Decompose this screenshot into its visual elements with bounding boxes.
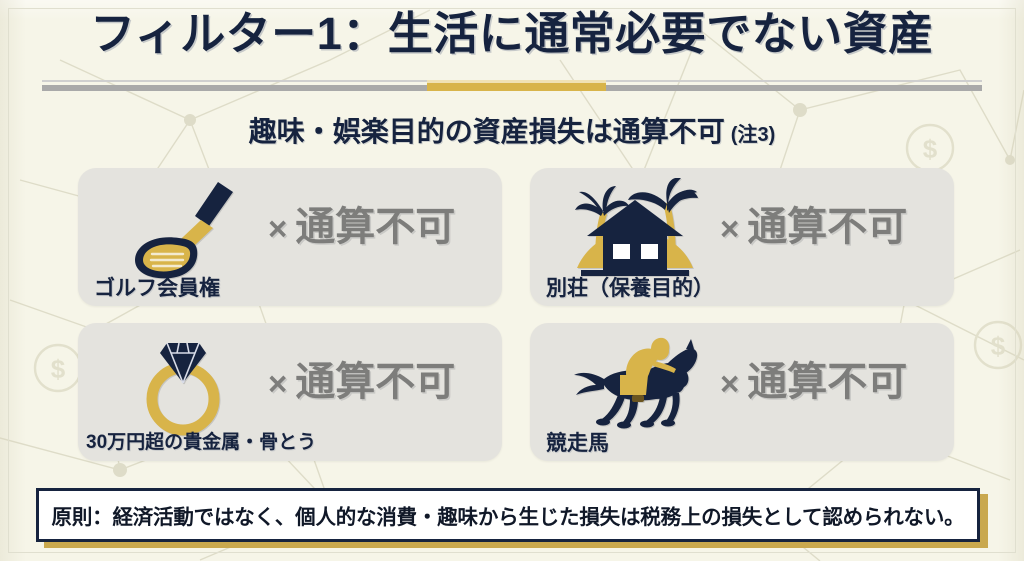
subtitle-footnote-ref: (注3)	[731, 124, 775, 146]
asset-card-golf: ゴルフ会員権 ×通算不可	[78, 168, 502, 306]
svg-text:$: $	[991, 331, 1006, 361]
slide-root: $ $ $ フィルター1：生活に通常必要でない資産 趣味・娯楽目的の資産損失は通…	[0, 0, 1024, 561]
principle-callout-box: 原則：経済活動ではなく、個人的な消費・趣味から生じた損失は税務上の損失として認め…	[36, 488, 980, 542]
asset-card-verdict: ×通算不可	[720, 194, 907, 252]
svg-text:$: $	[51, 354, 66, 384]
verdict-text: 通算不可	[747, 360, 907, 404]
cross-mark-icon: ×	[268, 365, 287, 402]
divider-accent-segment	[427, 83, 606, 91]
principle-text: 原則：経済活動ではなく、個人的な消費・趣味から生じた損失は税務上の損失として認め…	[52, 500, 965, 530]
asset-card-label: 別荘（保養目的）	[546, 272, 714, 302]
diamond-ring-icon	[108, 331, 258, 439]
title-divider	[42, 80, 982, 91]
racehorse-jockey-icon	[560, 331, 710, 439]
subtitle-text: 趣味・娯楽目的の資産損失は通算不可	[249, 116, 725, 147]
subtitle-row: 趣味・娯楽目的の資産損失は通算不可(注3)	[0, 110, 1024, 150]
cross-mark-icon: ×	[720, 210, 739, 247]
asset-card-grid: ゴルフ会員権 ×通算不可	[78, 168, 954, 466]
golf-club-icon	[108, 176, 258, 284]
page-title: フィルター1：生活に通常必要でない資産	[0, 10, 1024, 57]
asset-card-villa: 別荘（保養目的） ×通算不可	[530, 168, 954, 306]
verdict-text: 通算不可	[295, 205, 455, 249]
asset-card-verdict: ×通算不可	[268, 194, 455, 252]
asset-card-label: 競走馬	[546, 427, 609, 457]
asset-card-verdict: ×通算不可	[720, 349, 907, 407]
villa-palm-house-icon	[560, 176, 710, 284]
asset-card-racehorse: 競走馬 ×通算不可	[530, 323, 954, 461]
asset-card-label: ゴルフ会員権	[94, 272, 220, 302]
title-block: フィルター1：生活に通常必要でない資産	[0, 10, 1024, 57]
cross-mark-icon: ×	[268, 210, 287, 247]
cross-mark-icon: ×	[720, 365, 739, 402]
asset-card-verdict: ×通算不可	[268, 349, 455, 407]
verdict-text: 通算不可	[747, 205, 907, 249]
asset-card-label: 30万円超の貴金属・骨とう	[86, 427, 316, 454]
verdict-text: 通算不可	[295, 360, 455, 404]
asset-card-jewelry: 30万円超の貴金属・骨とう ×通算不可	[78, 323, 502, 461]
